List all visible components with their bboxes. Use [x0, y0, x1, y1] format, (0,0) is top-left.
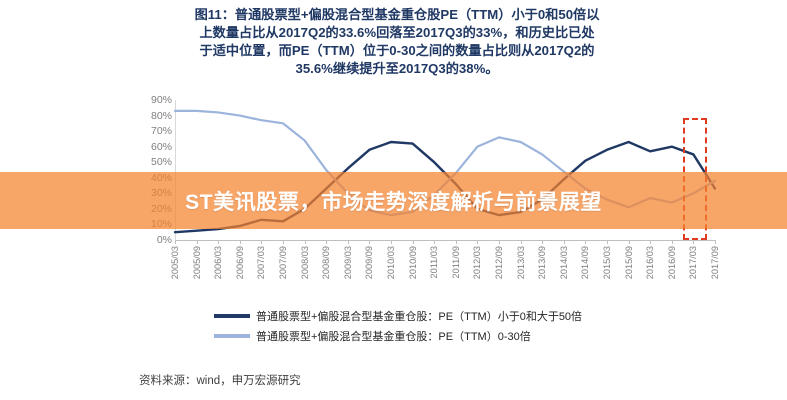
- y-axis-tick-label: 0%: [157, 234, 172, 246]
- page-title-line-1: 图11：普通股票型+偏股混合型基金重仓股PE（TTM）小于0和50倍以: [152, 6, 642, 24]
- x-axis-tick-label: 2005/09: [192, 246, 202, 279]
- x-axis-tick: [261, 240, 262, 244]
- x-axis-tick-label: 2007/03: [256, 246, 266, 279]
- x-axis-tick-label: 2011/09: [451, 246, 461, 279]
- page-title-line-4: 35.6%继续提升至2017Q3的38%。: [152, 60, 642, 78]
- x-axis-tick-label: 2017/09: [710, 246, 720, 279]
- x-axis-tick: [607, 240, 608, 244]
- x-axis-tick: [391, 240, 392, 244]
- x-axis-tick: [693, 240, 694, 244]
- x-axis-tick-label: 2006/09: [235, 246, 245, 279]
- x-axis-labels: 2005/032005/092006/032006/092007/032007/…: [175, 246, 715, 306]
- x-axis-tick: [305, 240, 306, 244]
- x-axis-tick: [240, 240, 241, 244]
- x-axis-tick-label: 2012/03: [472, 246, 482, 279]
- x-axis-tick: [499, 240, 500, 244]
- x-axis-tick: [477, 240, 478, 244]
- chart-page: 图11：普通股票型+偏股混合型基金重仓股PE（TTM）小于0和50倍以 上数量占…: [0, 0, 787, 400]
- x-axis-tick: [369, 240, 370, 244]
- x-axis-tick-label: 2016/09: [667, 246, 677, 279]
- x-axis-tick-label: 2008/03: [300, 246, 310, 279]
- x-axis-tick-label: 2009/03: [343, 246, 353, 279]
- x-axis-tick: [715, 240, 716, 244]
- x-axis-tick-label: 2014/09: [580, 246, 590, 279]
- x-axis-tick-label: 2013/03: [516, 246, 526, 279]
- x-axis-tick-label: 2008/09: [321, 246, 331, 279]
- source-note: 资料来源：wind，申万宏源研究: [139, 372, 301, 388]
- x-axis-tick: [650, 240, 651, 244]
- x-axis-tick: [629, 240, 630, 244]
- x-axis-tick-label: 2011/03: [429, 246, 439, 279]
- x-axis-tick: [585, 240, 586, 244]
- legend-swatch-icon: [214, 314, 250, 318]
- legend-label: 普通股票型+偏股混合型基金重仓股：PE（TTM）0-30倍: [256, 328, 531, 344]
- x-axis-tick: [542, 240, 543, 244]
- y-axis-tick-label: 60%: [151, 141, 172, 153]
- x-axis-tick-label: 2016/03: [645, 246, 655, 279]
- x-axis-tick: [175, 240, 176, 244]
- chart-legend: 普通股票型+偏股混合型基金重仓股：PE（TTM）小于0和大于50倍 普通股票型+…: [214, 306, 644, 346]
- x-axis-tick-label: 2015/09: [624, 246, 634, 279]
- x-axis-tick-label: 2010/09: [408, 246, 418, 279]
- page-title-line-2: 上数量占比从2017Q2的33.6%回落至2017Q3的33%，和历史比已处: [152, 24, 642, 42]
- x-axis-tick-label: 2012/09: [494, 246, 504, 279]
- legend-label: 普通股票型+偏股混合型基金重仓股：PE（TTM）小于0和大于50倍: [256, 308, 582, 324]
- x-axis-tick: [521, 240, 522, 244]
- x-axis-tick-label: 2010/03: [386, 246, 396, 279]
- x-axis-ticks: [175, 240, 715, 245]
- x-axis-tick: [326, 240, 327, 244]
- x-axis-tick: [413, 240, 414, 244]
- x-axis-tick: [197, 240, 198, 244]
- overlay-banner-text: ST美讯股票，市场走势深度解析与前景展望: [185, 186, 602, 216]
- y-axis-tick-label: 90%: [151, 94, 172, 106]
- y-axis-tick-label: 70%: [151, 125, 172, 137]
- x-axis-tick: [456, 240, 457, 244]
- x-axis-tick: [283, 240, 284, 244]
- overlay-banner: ST美讯股票，市场走势深度解析与前景展望: [0, 172, 787, 229]
- x-axis-tick-label: 2006/03: [213, 246, 223, 279]
- x-axis-tick-label: 2005/03: [170, 246, 180, 279]
- x-axis-tick-label: 2007/09: [278, 246, 288, 279]
- page-title-line-3: 于适中位置，而PE（TTM）位于0-30之间的数量占比则从2017Q2的: [152, 42, 642, 60]
- x-axis-tick: [218, 240, 219, 244]
- legend-swatch-icon: [214, 334, 250, 338]
- x-axis-tick-label: 2015/03: [602, 246, 612, 279]
- x-axis-tick: [672, 240, 673, 244]
- x-axis-tick-label: 2017/03: [688, 246, 698, 279]
- legend-item-1: 普通股票型+偏股混合型基金重仓股：PE（TTM）0-30倍: [214, 326, 644, 346]
- x-axis-tick: [434, 240, 435, 244]
- page-title: 图11：普通股票型+偏股混合型基金重仓股PE（TTM）小于0和50倍以 上数量占…: [152, 6, 642, 78]
- x-axis-tick: [564, 240, 565, 244]
- legend-item-0: 普通股票型+偏股混合型基金重仓股：PE（TTM）小于0和大于50倍: [214, 306, 644, 326]
- x-axis-tick-label: 2013/09: [537, 246, 547, 279]
- x-axis-tick: [348, 240, 349, 244]
- y-axis-tick-label: 50%: [151, 156, 172, 168]
- x-axis-tick-label: 2014/03: [559, 246, 569, 279]
- x-axis-tick-label: 2009/09: [364, 246, 374, 279]
- y-axis-tick-label: 80%: [151, 110, 172, 122]
